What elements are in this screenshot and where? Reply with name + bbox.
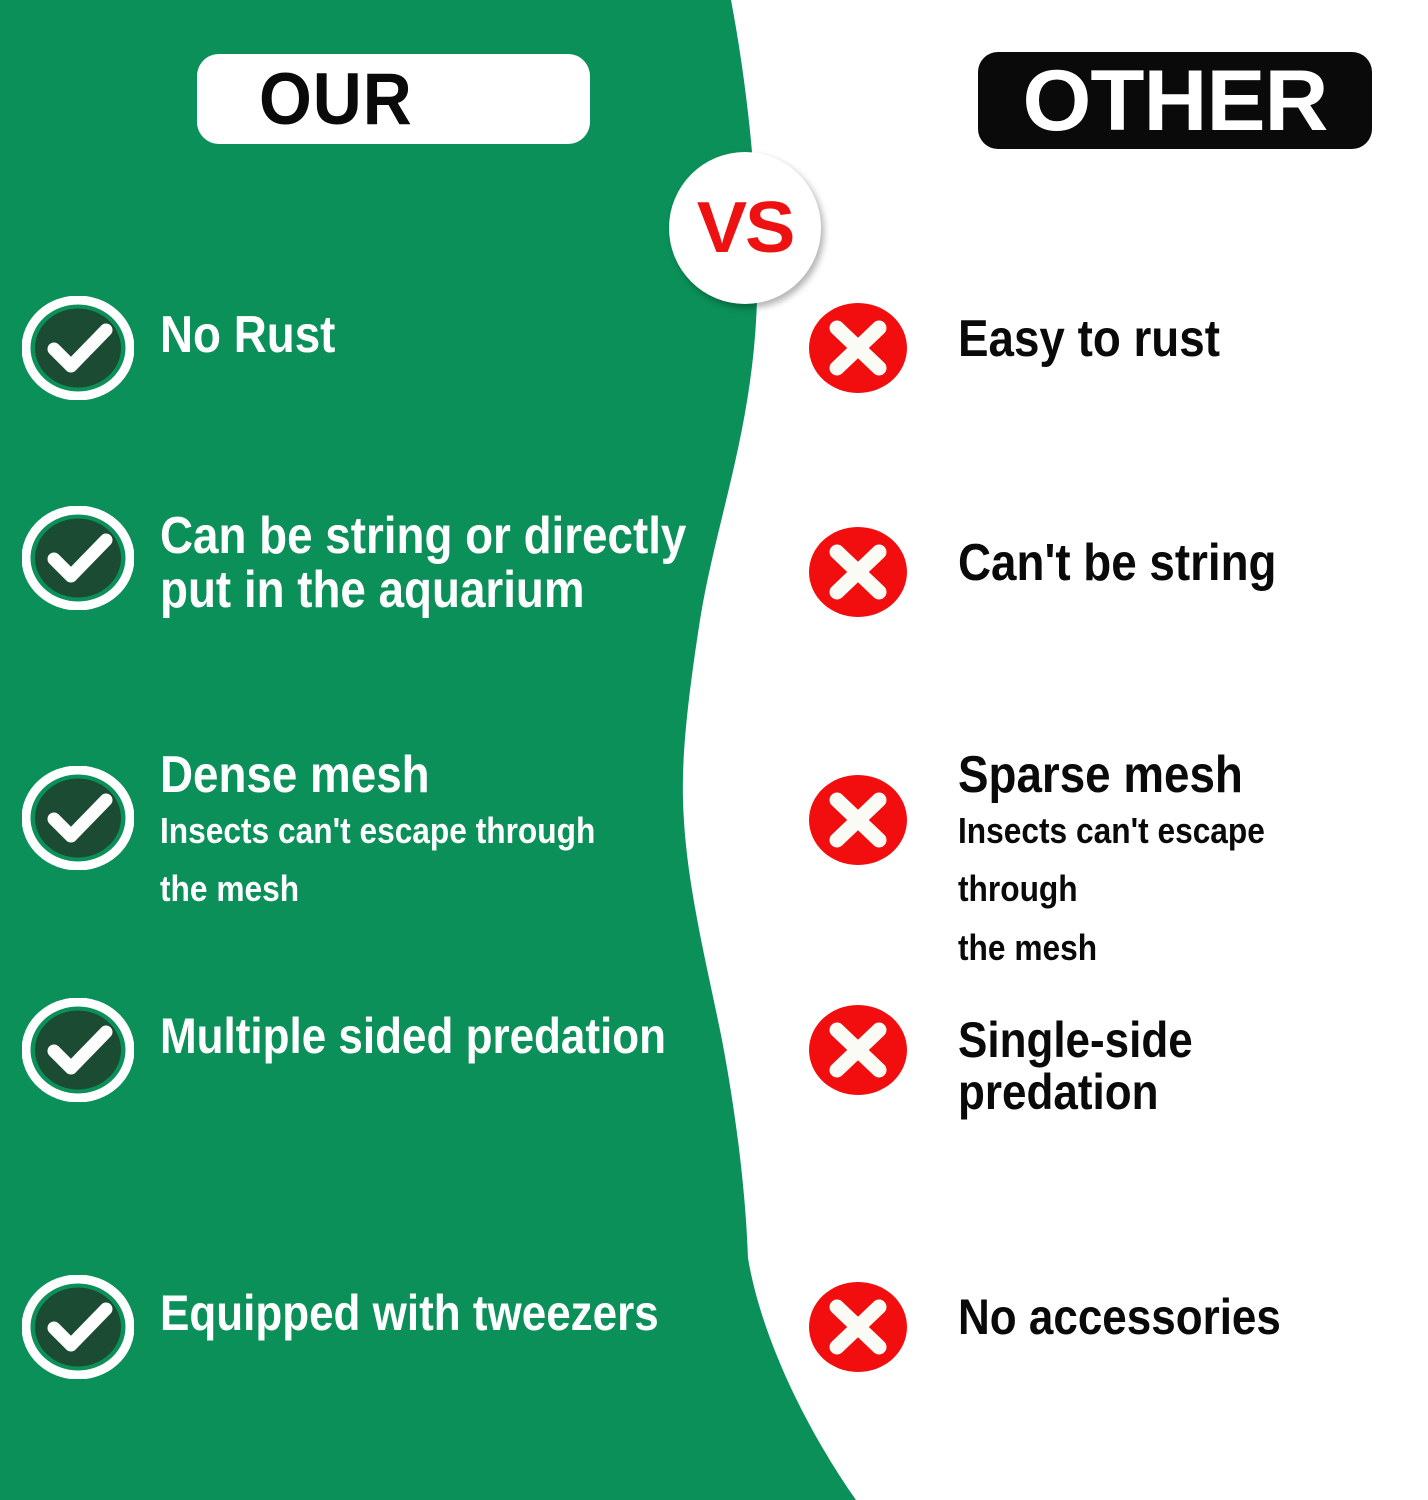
our-row-2-title: Can be string or directly put in the aqu… (160, 509, 686, 617)
x-circle-icon (806, 300, 910, 396)
our-row-3: Dense mesh Insects can't escape through … (22, 748, 655, 919)
our-row-3-title: Dense mesh (160, 748, 595, 802)
our-row-3-subtitle: Insects can't escape through the mesh (160, 802, 595, 919)
x-circle-icon (806, 772, 910, 868)
our-row-4: Multiple sided predation (22, 998, 735, 1102)
our-row-1-title: No Rust (160, 308, 335, 362)
our-row-5-title: Equipped with tweezers (160, 1287, 659, 1339)
check-circle-icon (22, 506, 134, 610)
x-circle-icon (806, 1279, 910, 1375)
other-header-label: OTHER (1023, 58, 1328, 144)
other-row-2-title: Can't be string (958, 536, 1277, 590)
our-row-4-title: Multiple sided predation (160, 1010, 666, 1062)
other-row-2: Can't be string (806, 524, 1320, 620)
other-row-3-title: Sparse mesh (958, 748, 1372, 802)
our-row-1: No Rust (22, 296, 359, 400)
our-row-2: Can be string or directly put in the aqu… (22, 506, 758, 617)
vs-badge: VS (669, 152, 821, 304)
x-circle-icon (806, 1002, 910, 1098)
other-row-3-subtitle: Insects can't escape through the mesh (958, 802, 1372, 977)
other-row-1: Easy to rust (806, 300, 1256, 396)
other-row-1-title: Easy to rust (958, 312, 1220, 366)
other-header-badge: OTHER (978, 52, 1372, 149)
check-circle-icon (22, 1275, 134, 1379)
other-row-4-title: Single-side predation (958, 1014, 1372, 1118)
our-header-badge: OUR (197, 54, 590, 144)
check-circle-icon (22, 998, 134, 1102)
check-circle-icon (22, 766, 134, 870)
vs-label: VS (697, 192, 794, 264)
our-row-5: Equipped with tweezers (22, 1275, 727, 1379)
comparison-infographic: OUR OTHER VS No Rust Can (0, 0, 1428, 1500)
check-circle-icon (22, 296, 134, 400)
x-circle-icon (806, 524, 910, 620)
other-row-3: Sparse mesh Insects can't escape through… (806, 748, 1428, 977)
other-row-4: Single-side predation (806, 1002, 1428, 1118)
other-row-5-title: No accessories (958, 1291, 1281, 1343)
other-row-5: No accessories (806, 1279, 1325, 1375)
our-header-label: OUR (259, 63, 413, 136)
